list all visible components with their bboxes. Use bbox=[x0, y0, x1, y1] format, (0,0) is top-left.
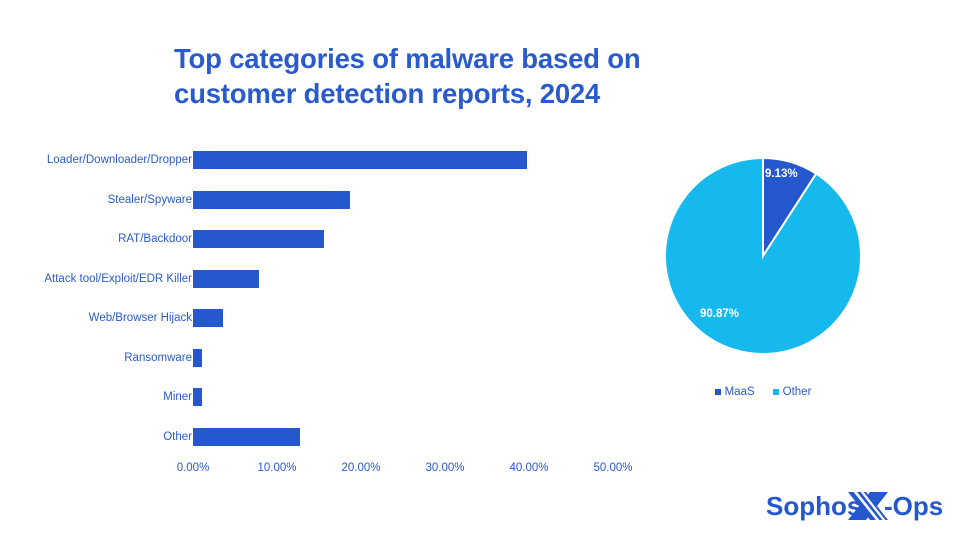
bar bbox=[193, 388, 202, 406]
bar bbox=[193, 151, 527, 169]
bar-category-label: Ransomware bbox=[124, 352, 192, 364]
legend-item-other[interactable]: Other bbox=[773, 386, 812, 398]
bar-fill bbox=[193, 230, 324, 248]
bar bbox=[193, 230, 324, 248]
pie-chart-legend: MaaSOther bbox=[664, 386, 862, 398]
bar-fill bbox=[193, 191, 350, 209]
bar-category-label: Attack tool/Exploit/EDR Killer bbox=[44, 273, 192, 285]
bar-chart-row: RAT/Backdoor bbox=[0, 230, 660, 248]
bar bbox=[193, 270, 259, 288]
pie-slice-label-maas: 9.13% bbox=[765, 168, 798, 180]
bar-chart-row: Attack tool/Exploit/EDR Killer bbox=[0, 270, 660, 288]
bar-fill bbox=[193, 388, 202, 406]
legend-label: MaaS bbox=[725, 386, 755, 398]
bar-category-label: Miner bbox=[163, 391, 192, 403]
legend-label: Other bbox=[783, 386, 812, 398]
legend-swatch-icon bbox=[715, 389, 721, 395]
pie-chart-svg bbox=[664, 157, 862, 355]
x-axis-tick-label: 30.00% bbox=[425, 462, 464, 474]
bar-fill bbox=[193, 151, 527, 169]
legend-swatch-icon bbox=[773, 389, 779, 395]
logo-wordmark-ops: -Ops bbox=[884, 491, 943, 521]
bar-chart-row: Stealer/Spyware bbox=[0, 191, 660, 209]
bar-chart-row: Ransomware bbox=[0, 349, 660, 367]
bar-category-label: Other bbox=[163, 431, 192, 443]
bar bbox=[193, 428, 300, 446]
logo-wordmark-sophos: Sophos bbox=[766, 491, 861, 521]
bar-fill bbox=[193, 428, 300, 446]
bar-chart-row: Miner bbox=[0, 388, 660, 406]
x-axis-tick-label: 20.00% bbox=[341, 462, 380, 474]
bar-category-label: RAT/Backdoor bbox=[118, 233, 192, 245]
bar-chart-row: Loader/Downloader/Dropper bbox=[0, 151, 660, 169]
sophos-x-ops-logo-svg: Sophos -Ops bbox=[766, 489, 944, 523]
page-title-line-2: customer detection reports, 2024 bbox=[174, 77, 754, 112]
bar-fill bbox=[193, 270, 259, 288]
pie-chart: 9.13% 90.87% bbox=[664, 157, 862, 355]
pie-slice-other bbox=[665, 158, 861, 354]
bar-category-label: Loader/Downloader/Dropper bbox=[47, 154, 192, 166]
bar-category-label: Web/Browser Hijack bbox=[89, 312, 192, 324]
x-axis-tick-label: 40.00% bbox=[509, 462, 548, 474]
bar-chart-row: Web/Browser Hijack bbox=[0, 309, 660, 327]
bar-chart-row: Other bbox=[0, 428, 660, 446]
bar-fill bbox=[193, 349, 202, 367]
bar bbox=[193, 349, 202, 367]
bar bbox=[193, 309, 223, 327]
bar bbox=[193, 191, 350, 209]
x-axis-tick-label: 50.00% bbox=[593, 462, 632, 474]
pie-slice-label-other: 90.87% bbox=[700, 308, 739, 320]
bar-chart-x-axis: 0.00%10.00%20.00%30.00%40.00%50.00% bbox=[0, 462, 660, 484]
page-title: Top categories of malware based on custo… bbox=[174, 42, 754, 112]
x-axis-tick-label: 10.00% bbox=[257, 462, 296, 474]
page-title-line-1: Top categories of malware based on bbox=[174, 42, 754, 77]
bar-fill bbox=[193, 309, 223, 327]
bar-category-label: Stealer/Spyware bbox=[108, 194, 192, 206]
x-axis-tick-label: 0.00% bbox=[177, 462, 210, 474]
legend-item-maas[interactable]: MaaS bbox=[715, 386, 755, 398]
bar-chart: Loader/Downloader/DropperStealer/Spyware… bbox=[0, 140, 660, 490]
sophos-x-ops-logo: Sophos -Ops bbox=[766, 489, 944, 523]
